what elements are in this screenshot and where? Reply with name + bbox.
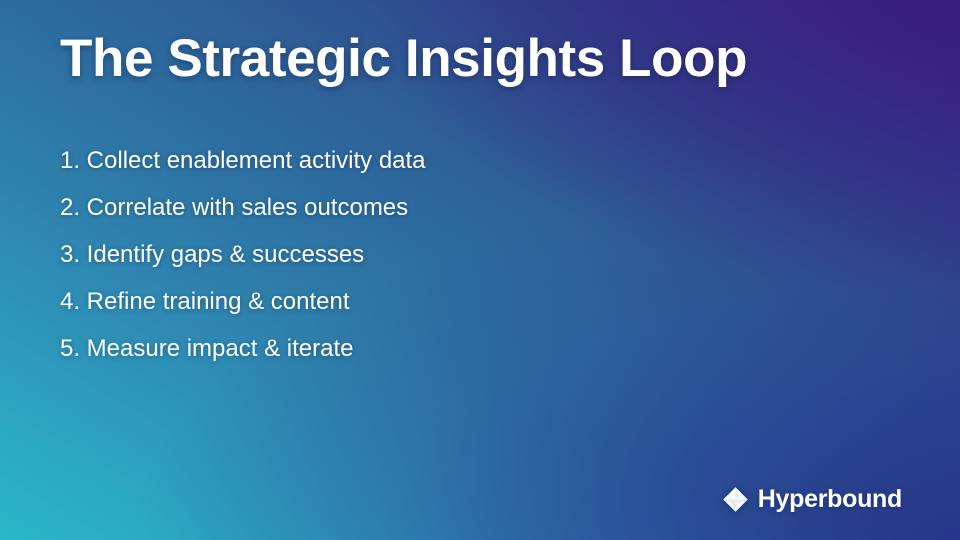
list-item: 2. Correlate with sales outcomes [60, 193, 426, 223]
brand-logo: Hyperbound [722, 486, 902, 513]
list-item: 5. Measure impact & iterate [60, 334, 426, 364]
slide-content: The Strategic Insights Loop 1. Collect e… [0, 0, 960, 540]
brand-name: Hyperbound [758, 487, 902, 512]
list-item: 3. Identify gaps & successes [60, 240, 426, 270]
page-title: The Strategic Insights Loop [60, 29, 747, 88]
presentation-slide: The Strategic Insights Loop 1. Collect e… [0, 0, 960, 540]
diamond-gem-icon [722, 486, 749, 513]
steps-list: 1. Collect enablement activity data 2. C… [60, 146, 426, 364]
list-item: 4. Refine training & content [60, 287, 426, 317]
list-item: 1. Collect enablement activity data [60, 146, 426, 176]
